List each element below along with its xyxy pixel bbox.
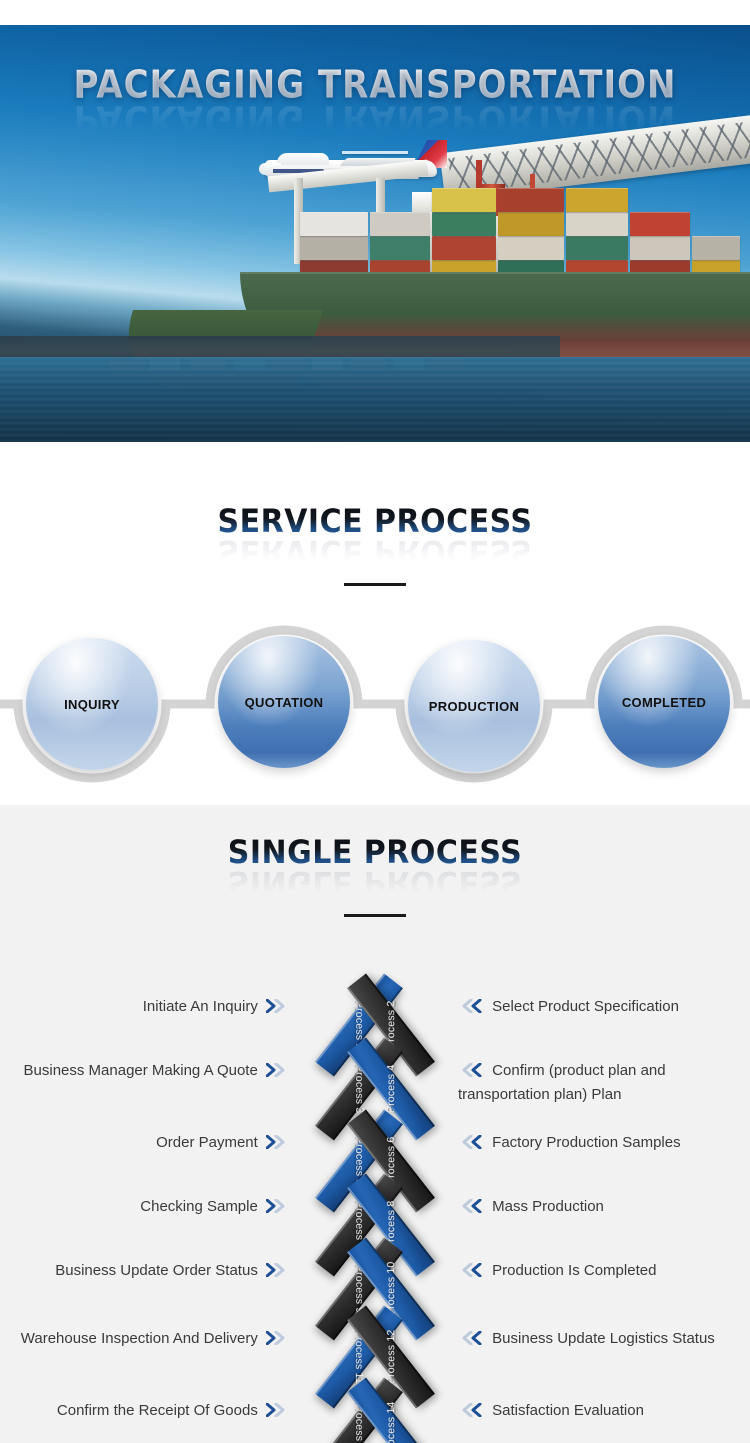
banner-underline <box>342 151 408 154</box>
process-left-label: Checking Sample <box>0 1195 300 1219</box>
process-left-text: Order Payment <box>156 1134 258 1151</box>
service-node-completed[interactable]: COMPLETED <box>598 636 730 768</box>
chevron-right-icon <box>266 1063 288 1080</box>
service-node-label: INQUIRY <box>64 697 120 712</box>
process-left-text: Business Manager Making A Quote <box>24 1062 258 1079</box>
chevron-left-icon <box>462 999 484 1016</box>
process-badge-label: Process 4 <box>385 1065 397 1114</box>
process-right-label: Business Update Logistics Status <box>450 1327 750 1351</box>
chevron-left-icon <box>462 1199 484 1216</box>
process-right-label: Factory Production Samples <box>450 1131 750 1155</box>
service-process-title-reflection: SERVICE PROCESS <box>0 533 750 571</box>
process-right-label: Satisfaction Evaluation <box>450 1399 750 1423</box>
process-left-label: Business Update Order Status <box>0 1259 300 1283</box>
process-left-label: Order Payment <box>0 1131 300 1155</box>
process-right-text: Select Product Specification <box>492 998 679 1015</box>
chevron-right-icon <box>266 1263 288 1280</box>
process-right-text: Factory Production Samples <box>492 1134 680 1151</box>
process-chevron-column: Process 1 Process 2 Process 3 Process 4 … <box>313 995 437 1443</box>
process-right-label: Confirm (product plan and transportation… <box>450 1059 750 1107</box>
service-flow-nodes: INQUIRY QUOTATION PRODUCTION COMPLETED <box>0 608 750 788</box>
process-right-text: Satisfaction Evaluation <box>492 1402 644 1419</box>
chevron-right-icon <box>266 1403 288 1420</box>
banner-title-reflection: PACKAGING TRANSPORTATION <box>0 97 750 142</box>
process-left-text: Confirm the Receipt Of Goods <box>57 1402 258 1419</box>
process-left-label: Confirm the Receipt Of Goods <box>0 1399 300 1423</box>
service-flow-diagram: INQUIRY QUOTATION PRODUCTION COMPLETED <box>0 608 750 788</box>
process-badge-label: Process 14 <box>385 1402 397 1443</box>
hero-banner: PACKAGING TRANSPORTATION PACKAGING TRANS… <box>0 25 750 442</box>
process-right-text: Production Is Completed <box>492 1262 656 1279</box>
banner-title-block: PACKAGING TRANSPORTATION PACKAGING TRANS… <box>0 65 750 154</box>
single-process-title-reflection: SINGLE PROCESS <box>0 864 750 902</box>
container-stack <box>300 176 740 286</box>
process-left-text: Business Update Order Status <box>55 1262 258 1279</box>
process-left-label: Initiate An Inquiry <box>0 995 300 1019</box>
process-right-text: Confirm (product plan and transportation… <box>458 1062 666 1103</box>
chevron-left-icon <box>462 1263 484 1280</box>
chevron-right-icon <box>266 1135 288 1152</box>
page-root: PACKAGING TRANSPORTATION PACKAGING TRANS… <box>0 0 750 1443</box>
service-node-label: PRODUCTION <box>429 699 519 714</box>
process-rows: Initiate An Inquiry Select Product Speci… <box>0 995 750 1443</box>
service-process-underline <box>344 583 406 586</box>
process-right-label: Mass Production <box>450 1195 750 1219</box>
service-node-label: QUOTATION <box>245 695 324 710</box>
chevron-left-icon <box>462 1063 484 1080</box>
airplane-upper-deck <box>277 153 329 165</box>
service-process-section: SERVICE PROCESS SERVICE PROCESS INQUIRY … <box>0 442 750 805</box>
process-right-text: Business Update Logistics Status <box>492 1330 715 1347</box>
process-left-label: Business Manager Making A Quote <box>0 1059 300 1083</box>
process-left-text: Initiate An Inquiry <box>143 998 258 1015</box>
service-node-label: COMPLETED <box>622 695 706 710</box>
chevron-left-icon <box>462 1403 484 1420</box>
service-node-inquiry[interactable]: INQUIRY <box>26 638 158 770</box>
single-process-underline <box>344 914 406 917</box>
chevron-left-icon <box>462 1331 484 1348</box>
process-left-text: Checking Sample <box>140 1198 258 1215</box>
process-badge-label: Process 12 <box>385 1330 397 1385</box>
service-node-quotation[interactable]: QUOTATION <box>218 636 350 768</box>
process-right-text: Mass Production <box>492 1198 604 1215</box>
service-node-production[interactable]: PRODUCTION <box>408 640 540 772</box>
process-left-label: Warehouse Inspection And Delivery <box>0 1327 300 1351</box>
chevron-left-icon <box>462 1135 484 1152</box>
water-surface <box>0 357 750 442</box>
chevron-right-icon <box>266 1331 288 1348</box>
process-right-label: Select Product Specification <box>450 995 750 1019</box>
process-left-text: Warehouse Inspection And Delivery <box>21 1330 258 1347</box>
chevron-right-icon <box>266 999 288 1016</box>
process-chevron-pair: Process 13 Process 14 <box>313 1399 437 1443</box>
chevron-right-icon <box>266 1199 288 1216</box>
single-process-title-block: SINGLE PROCESS SINGLE PROCESS <box>0 805 750 917</box>
process-right-label: Production Is Completed <box>450 1259 750 1283</box>
single-process-section: SINGLE PROCESS SINGLE PROCESS Initiate A… <box>0 805 750 1443</box>
service-process-title-block: SERVICE PROCESS SERVICE PROCESS <box>0 442 750 586</box>
